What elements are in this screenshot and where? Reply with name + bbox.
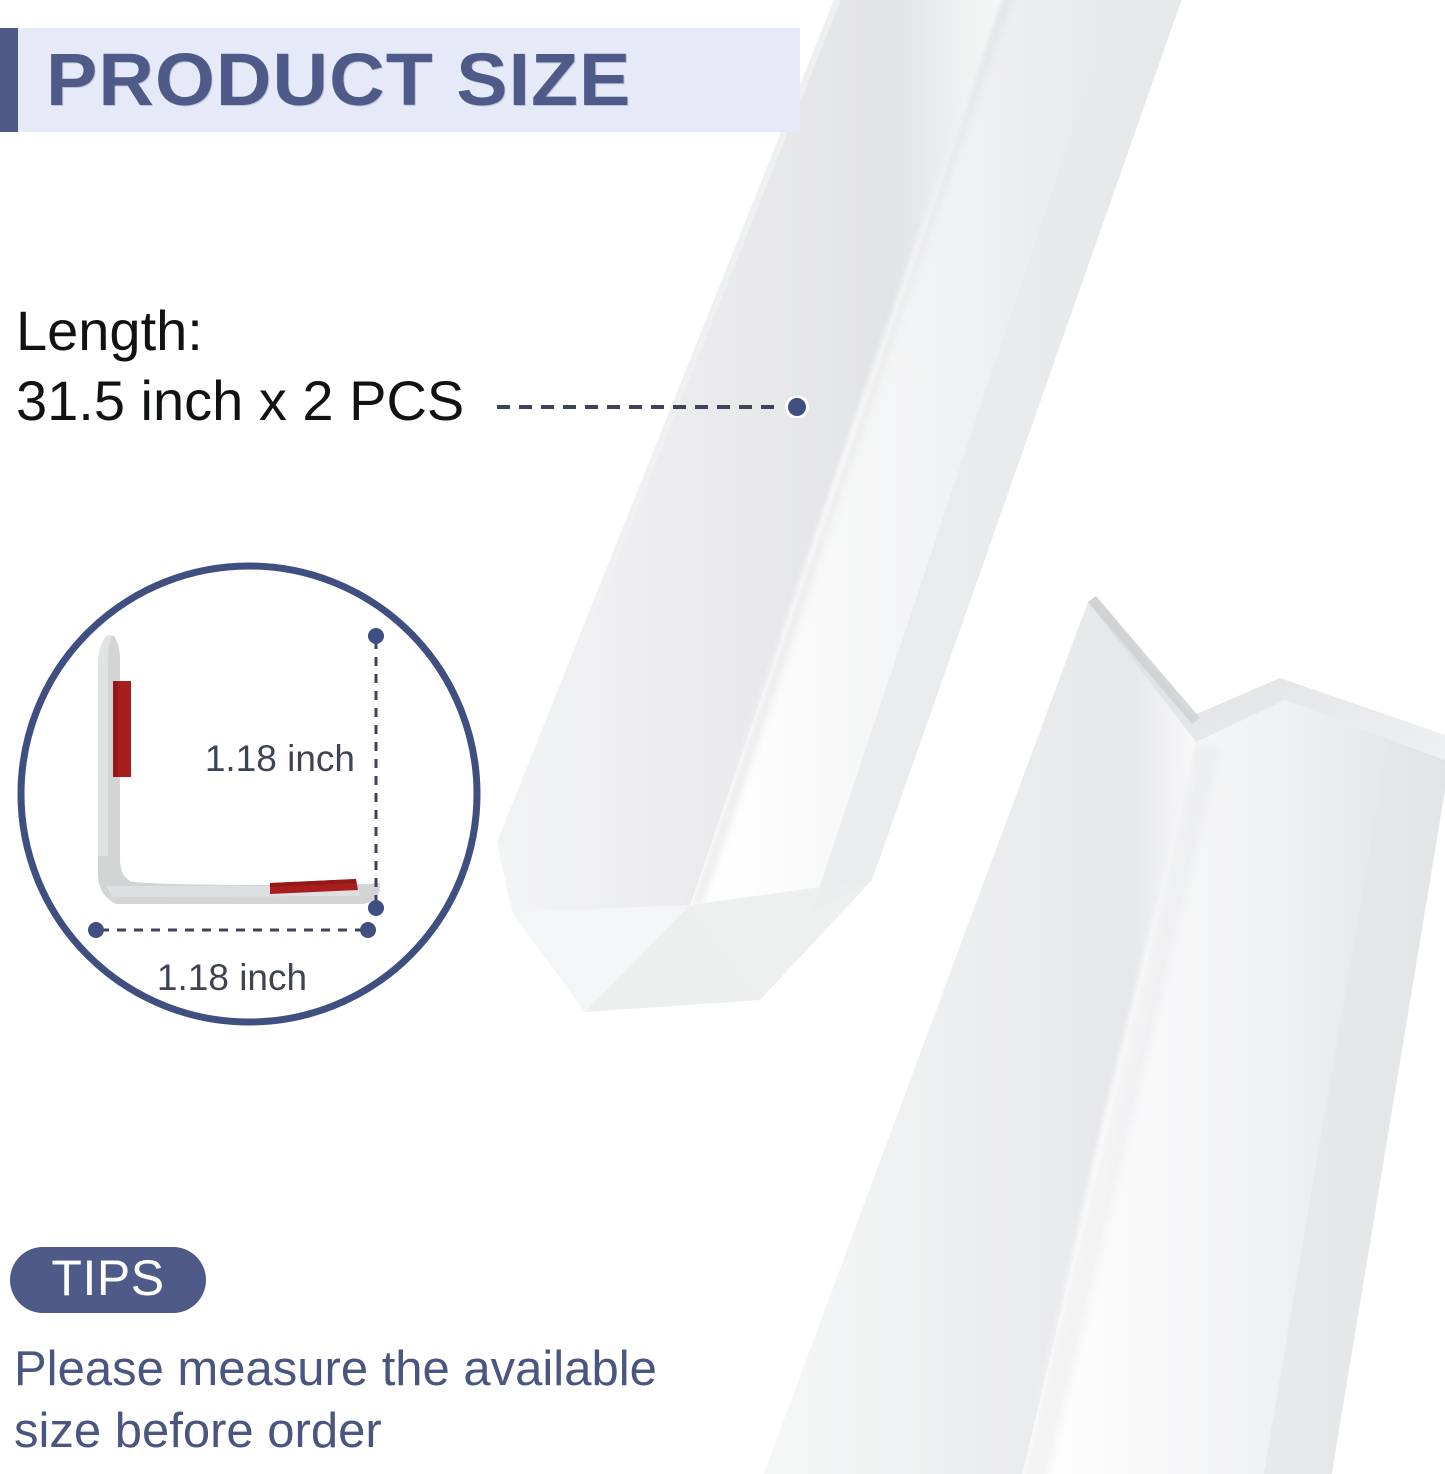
h-dim-dot-left (88, 922, 104, 938)
horizontal-dimension-label: 1.18 inch (157, 957, 307, 998)
tips-line-1: Please measure the available (14, 1338, 774, 1400)
h-dim-dot-right (360, 922, 376, 938)
infographic-canvas: PRODUCT SIZE Length: 31.5 inch x 2 PCS (0, 0, 1445, 1474)
length-value: 31.5 inch x 2 PCS (16, 366, 464, 436)
leader-endpoint-dot (788, 398, 806, 416)
adhesive-strip-vertical (113, 681, 131, 777)
detail-circle-ring (21, 566, 477, 1022)
tips-line-2: size before order (14, 1400, 774, 1462)
product-size-banner: PRODUCT SIZE (0, 28, 800, 132)
tips-badge: TIPS (10, 1247, 206, 1313)
length-callout: Length: 31.5 inch x 2 PCS (16, 296, 464, 436)
tips-badge-label: TIPS (51, 1253, 164, 1303)
length-label: Length: (16, 296, 464, 366)
vertical-dimension-label: 1.18 inch (205, 738, 355, 779)
tips-body: Please measure the available size before… (14, 1338, 774, 1462)
v-dim-dot-bottom (368, 900, 384, 916)
banner-accent-bar (0, 28, 18, 132)
dimension-detail-circle: 1.18 inch 1.18 inch (8, 556, 494, 1042)
length-leader-line (495, 396, 815, 418)
page-title: PRODUCT SIZE (46, 43, 631, 117)
v-dim-dot-top (368, 628, 384, 644)
